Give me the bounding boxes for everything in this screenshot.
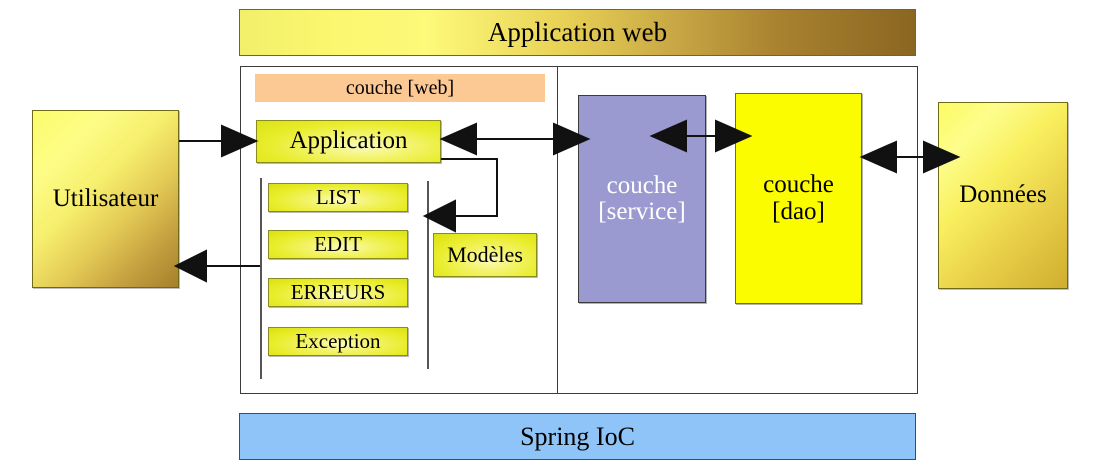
- view-box-list[interactable]: LIST: [268, 183, 408, 212]
- application-web-banner: Application web: [239, 9, 916, 56]
- couche-dao-box[interactable]: couche [dao]: [735, 93, 862, 304]
- models-group-rule: [427, 181, 429, 369]
- view-box-exception[interactable]: Exception: [268, 327, 408, 356]
- views-group-rule: [260, 178, 262, 379]
- application-box[interactable]: Application: [256, 120, 441, 163]
- modeles-box[interactable]: Modèles: [433, 233, 537, 277]
- arrow-head-icon: [176, 251, 206, 281]
- couche-web-header: couche [web]: [255, 74, 545, 102]
- spring-ioc-banner: Spring IoC: [239, 413, 916, 460]
- couche-service-label-line2: [service]: [598, 199, 685, 225]
- view-box-erreurs[interactable]: ERREURS: [268, 278, 408, 307]
- donnees-box[interactable]: Données: [938, 102, 1068, 289]
- architecture-diagram: Application web couche [web] Application…: [0, 0, 1100, 471]
- couche-dao-label-line1: couche: [763, 172, 834, 198]
- utilisateur-box[interactable]: Utilisateur: [32, 110, 179, 288]
- view-box-edit[interactable]: EDIT: [268, 230, 408, 259]
- couche-service-box[interactable]: couche [service]: [578, 95, 706, 303]
- couche-service-label-line1: couche: [607, 173, 678, 199]
- couche-dao-label-line2: [dao]: [772, 199, 825, 225]
